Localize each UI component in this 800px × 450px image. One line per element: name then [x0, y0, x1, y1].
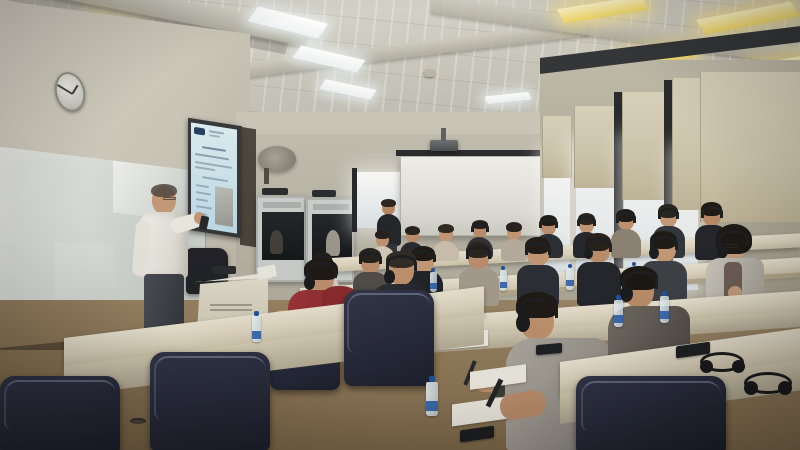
- back-wall-upper: [236, 112, 576, 134]
- booth-equipment: [312, 190, 336, 197]
- bottle-label: [430, 283, 437, 289]
- window-blind: [542, 116, 572, 178]
- bottle-cap: [616, 295, 621, 300]
- headset-earcup: [584, 248, 593, 259]
- window-mullion: [352, 168, 357, 232]
- clock-minute-hand: [57, 85, 72, 95]
- translation-headset: [701, 206, 723, 218]
- conference-chair: [0, 376, 120, 450]
- translation-headset: [466, 246, 491, 259]
- water-bottle: [660, 296, 669, 323]
- translation-headset: [577, 216, 596, 226]
- window-blind: [622, 92, 666, 200]
- attendee-hair: [381, 199, 396, 207]
- headset-on-desk: [700, 352, 746, 374]
- chair-rim: [581, 381, 721, 431]
- window-blind: [574, 106, 616, 188]
- slide-heading: [202, 146, 226, 152]
- fan-mount: [264, 168, 269, 184]
- bottle-cap: [662, 291, 667, 296]
- bottle-cap: [431, 268, 435, 272]
- attendee-hair: [438, 224, 454, 233]
- slide-text-line: [195, 166, 215, 171]
- headset-earcup: [717, 244, 728, 258]
- projector-mount: [441, 128, 446, 141]
- booth-equipment: [262, 188, 288, 195]
- translation-headset: [658, 208, 679, 219]
- slide-text-line: [202, 176, 228, 182]
- conference-chair: [150, 352, 270, 450]
- smoke-detector-icon: [424, 69, 435, 77]
- cable-grommet: [130, 418, 146, 424]
- conference-room-photo: [0, 0, 800, 450]
- conference-chair: [344, 290, 434, 386]
- slide-title-line: [209, 134, 220, 137]
- headset-earcup: [744, 381, 758, 395]
- ceiling-projector: [430, 140, 458, 151]
- bottle-label: [660, 311, 669, 319]
- headset-earcup: [778, 381, 792, 395]
- wall-dark-strip: [240, 127, 256, 248]
- conference-chair: [576, 376, 726, 450]
- lectern-equipment: [212, 266, 236, 274]
- translation-headset: [525, 242, 551, 255]
- chair-rim: [154, 356, 266, 420]
- slide-logo-icon: [194, 127, 205, 136]
- water-bottle: [426, 382, 438, 416]
- headset-earcup: [384, 270, 395, 284]
- chair-rim: [4, 380, 116, 430]
- bottle-cap: [429, 376, 435, 382]
- bottle-cap: [254, 311, 259, 316]
- headset-earcup: [304, 276, 315, 290]
- presenter-glasses-icon: [163, 197, 176, 200]
- lectern-vent: [210, 304, 252, 306]
- booth-window: [262, 212, 304, 260]
- headset-earcup: [516, 314, 530, 332]
- presenter-hair: [151, 184, 177, 197]
- water-bottle: [614, 300, 623, 327]
- attendee-hair: [405, 226, 420, 235]
- window-blind: [700, 72, 800, 222]
- slide-text-line: [195, 153, 229, 160]
- booth-label-plate: [263, 202, 301, 208]
- translation-headset: [616, 212, 636, 223]
- attendee-hair: [375, 230, 390, 239]
- headset-earcup: [700, 360, 713, 373]
- bottle-label: [426, 401, 438, 411]
- water-bottle: [566, 268, 574, 290]
- translation-headset: [471, 223, 489, 232]
- bottle-label: [614, 315, 623, 323]
- slide-image: [215, 186, 233, 227]
- translation-headset: [539, 218, 558, 228]
- translation-headset: [386, 255, 417, 271]
- bottle-label: [252, 331, 261, 339]
- water-bottle: [252, 316, 261, 342]
- attendee-hair: [506, 222, 522, 232]
- headset-earcup: [649, 247, 659, 259]
- bottle-label: [566, 280, 574, 286]
- lectern-vent: [210, 309, 252, 311]
- booth-label-plate: [313, 204, 349, 210]
- headset-on-desk: [744, 372, 794, 396]
- interpreter-silhouette: [326, 230, 340, 256]
- water-bottle: [430, 272, 437, 292]
- bottle-cap: [501, 266, 505, 270]
- chair-rim: [347, 293, 431, 353]
- bottle-cap: [568, 264, 572, 268]
- interpreter-silhouette: [270, 230, 283, 254]
